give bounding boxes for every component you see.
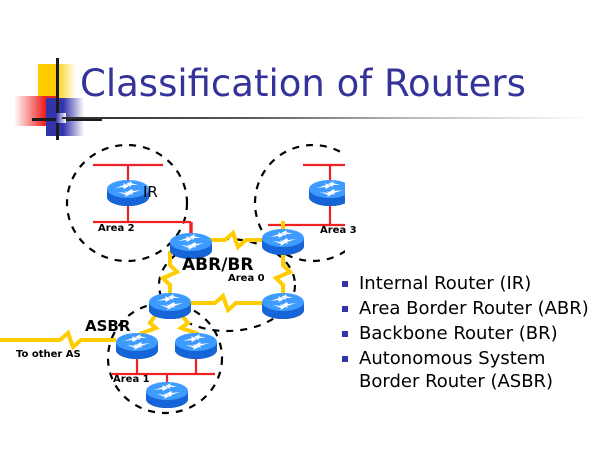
bullet-square-icon <box>342 306 348 312</box>
label-area-2: Area 2 <box>98 223 135 234</box>
label-area-0: Area 0 <box>228 273 265 284</box>
bullet-label: Area Border Router (ABR) <box>359 297 589 320</box>
page-title: Classification of Routers <box>80 62 526 105</box>
router-ir-area3 <box>309 180 345 206</box>
bullet-label: Autonomous System Border Router (ASBR) <box>359 347 592 393</box>
router-abr-area3 <box>262 229 304 255</box>
bullet-square-icon <box>342 356 348 362</box>
list-item: Backbone Router (BR) <box>342 322 592 345</box>
router-backbone-right <box>262 293 304 319</box>
bullet-label: Backbone Router (BR) <box>359 322 558 345</box>
bullet-list: Internal Router (IR) Area Border Router … <box>342 272 592 395</box>
bullet-label: Internal Router (IR) <box>359 272 531 295</box>
router-backbone-left <box>149 293 191 319</box>
router-area1-bottom <box>146 382 188 408</box>
router-area1-right <box>175 333 217 359</box>
label-asbr: ASBR <box>85 317 130 335</box>
label-area-1: Area 1 <box>113 374 150 385</box>
network-diagram: IR Area 2 Area 3 ABR/BR Area 0 ASBR To o… <box>0 125 345 415</box>
title-divider <box>62 117 592 119</box>
bullet-square-icon <box>342 281 348 287</box>
bullet-square-icon <box>342 331 348 337</box>
list-item: Area Border Router (ABR) <box>342 297 592 320</box>
label-abr-br: ABR/BR <box>182 255 253 275</box>
slide-canvas: Classification of Routers <box>0 0 600 450</box>
label-area-3: Area 3 <box>320 225 357 236</box>
list-item: Internal Router (IR) <box>342 272 592 295</box>
router-asbr-area1 <box>116 333 158 359</box>
list-item: Autonomous System Border Router (ASBR) <box>342 347 592 393</box>
label-ir: IR <box>143 183 158 201</box>
label-to-other-as: To other AS <box>16 349 81 360</box>
